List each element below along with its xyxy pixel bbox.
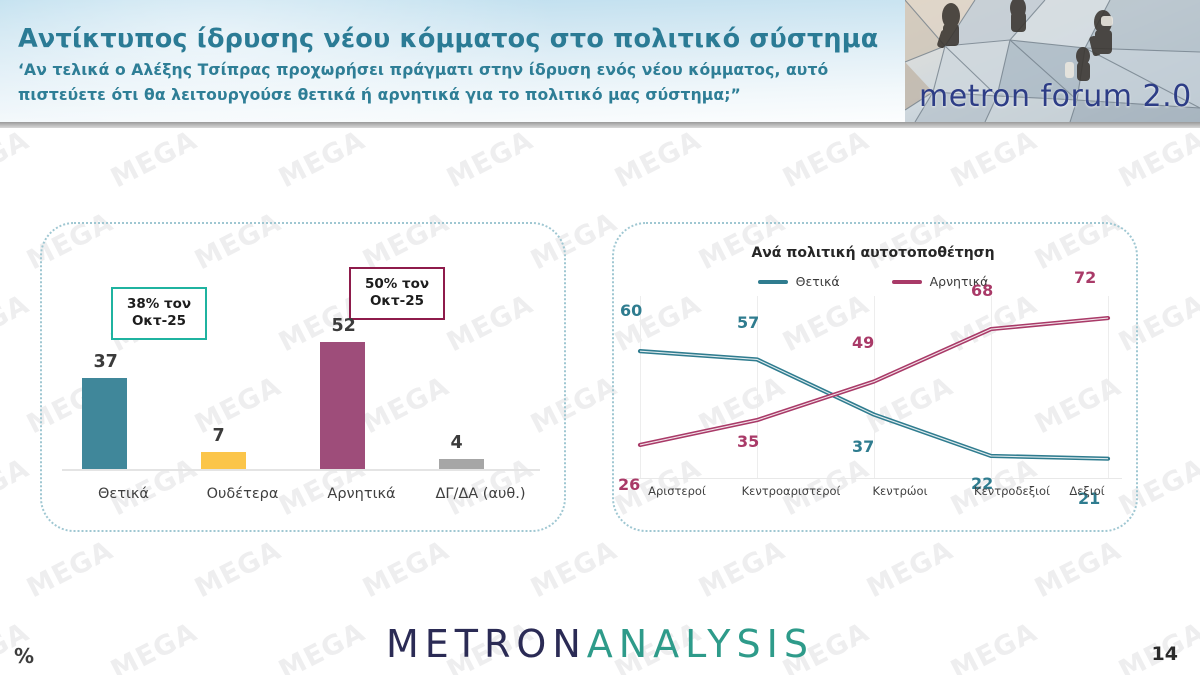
watermark-text: MEGA: [0, 453, 34, 523]
watermark-text: MEGA: [610, 125, 706, 195]
page-number: 14: [1152, 643, 1178, 665]
watermark-text: MEGA: [694, 535, 790, 605]
point-value-label: 49: [852, 333, 874, 352]
point-value-label: 35: [737, 432, 759, 451]
point-value-label: 37: [852, 437, 874, 456]
watermark-text: MEGA: [106, 125, 202, 195]
x-axis-label: Κεντροαριστεροί: [716, 484, 866, 498]
point-value-label: 68: [971, 281, 993, 300]
point-value-label: 60: [620, 301, 642, 320]
legend-label: Θετικά: [796, 274, 840, 289]
line-chart-legend: ΘετικάΑρνητικά: [612, 274, 1134, 289]
metron-analysis-logo: METRONANALYSIS: [0, 622, 1200, 666]
watermark-text: MEGA: [358, 535, 454, 605]
watermark-text: MEGA: [274, 125, 370, 195]
watermark-text: MEGA: [1114, 125, 1200, 195]
bar-category-label: Αρνητικά: [302, 486, 421, 502]
logo-analysis-text: ANALYSIS: [587, 622, 814, 666]
bar-value-label: 4: [421, 433, 570, 453]
legend-swatch: [758, 280, 788, 284]
line-chart-title: Ανά πολιτική αυτοτοποθέτηση: [612, 245, 1134, 261]
bar-chart: 38% τον Οκτ-25 50% τον Οκτ-25 377524 Θετ…: [40, 222, 562, 528]
plot-baseline: [626, 478, 1122, 479]
watermark-text: MEGA: [442, 125, 538, 195]
bar-column: 7: [183, 219, 302, 469]
watermark-text: MEGA: [22, 535, 118, 605]
header-divider: [0, 122, 1200, 128]
bar-rect: [320, 342, 365, 469]
bar-chart-axis: [62, 469, 540, 471]
watermark-text: MEGA: [190, 535, 286, 605]
x-axis-label: Δεξιοί: [1052, 484, 1122, 498]
bar-column: 4: [421, 219, 540, 469]
watermark-text: MEGA: [526, 535, 622, 605]
page-subtitle: ‘Αν τελικά ο Αλέξης Τσίπρας προχωρήσει π…: [18, 58, 878, 108]
watermark-text: MEGA: [0, 289, 34, 359]
watermark-text: MEGA: [1030, 535, 1126, 605]
point-value-label: 57: [737, 313, 759, 332]
bar-column: 37: [64, 219, 183, 469]
bar-column: 52: [302, 219, 421, 469]
watermark-text: MEGA: [862, 535, 958, 605]
bar-category-label: Ουδέτερα: [183, 486, 302, 502]
legend-swatch: [892, 280, 922, 284]
bar-category-label: Θετικά: [64, 486, 183, 502]
forum-logo-label: metron forum 2.0: [919, 79, 1192, 114]
bar-category-label: ΔΓ/ΔΑ (αυθ.): [421, 486, 540, 502]
bar-rect: [82, 378, 127, 469]
point-value-label: 72: [1074, 268, 1096, 287]
legend-item-positive[interactable]: Θετικά: [758, 274, 840, 289]
bar-rect: [439, 459, 484, 469]
watermark-text: MEGA: [946, 125, 1042, 195]
bar-rect: [201, 452, 246, 469]
x-axis-label: Κεντρώοι: [850, 484, 950, 498]
logo-metron-text: METRON: [386, 622, 587, 666]
metron-forum-logo: metron forum 2.0: [905, 0, 1200, 122]
line-chart: Ανά πολιτική αυτοτοποθέτηση ΘετικάΑρνητι…: [612, 222, 1134, 528]
watermark-text: MEGA: [0, 125, 34, 195]
page-title: Αντίκτυπος ίδρυσης νέου κόμματος στο πολ…: [18, 24, 878, 54]
watermark-text: MEGA: [778, 125, 874, 195]
